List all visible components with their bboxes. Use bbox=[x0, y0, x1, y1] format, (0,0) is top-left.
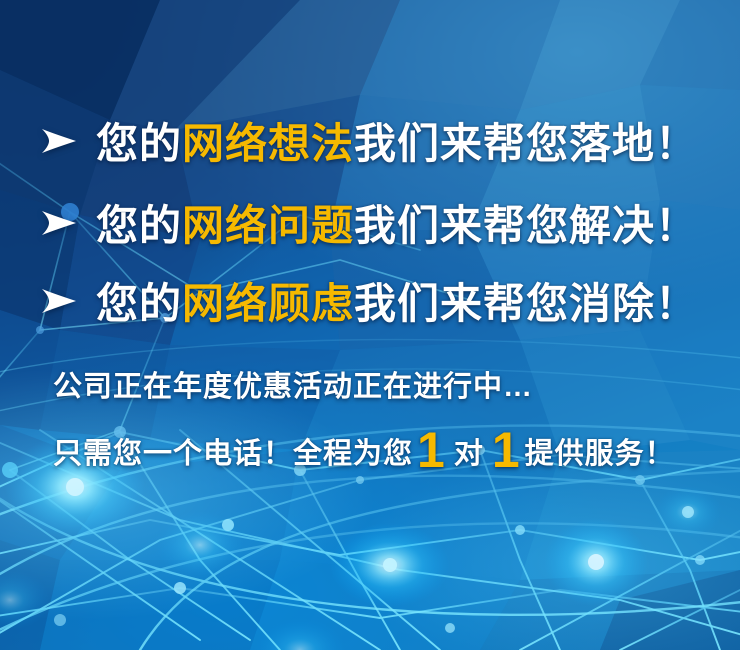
arrow-right-icon bbox=[40, 206, 78, 240]
headline-3-highlight: 网络顾虑 bbox=[182, 270, 354, 331]
headline-2-suffix: 我们来帮您解决！ bbox=[354, 192, 698, 253]
service-number-first: 1 bbox=[413, 422, 450, 478]
subline-service-part1: 只需您一个电话！全程为您 bbox=[53, 438, 413, 470]
arrow-right-icon bbox=[40, 284, 78, 318]
headline-row-1: 您的网络想法我们来帮您落地！ bbox=[40, 110, 698, 171]
arrow-right-icon bbox=[40, 124, 78, 158]
headline-1-prefix: 您的 bbox=[96, 110, 182, 171]
headline-3-prefix: 您的 bbox=[96, 270, 182, 331]
promo-subline-activity: 公司正在年度优惠活动正在进行中… bbox=[53, 363, 533, 405]
service-middle-word: 对 bbox=[450, 438, 488, 470]
headline-2-highlight: 网络问题 bbox=[182, 192, 354, 253]
service-number-second: 1 bbox=[488, 422, 525, 478]
headline-1-suffix: 我们来帮您落地！ bbox=[354, 110, 698, 171]
headline-1-highlight: 网络想法 bbox=[182, 110, 354, 171]
banner-content: 您的网络想法我们来帮您落地！ 您的网络问题我们来帮您解决！ 您的网络顾虑我们来帮… bbox=[0, 0, 740, 650]
promo-subline-service: 只需您一个电话！全程为您1对1提供服务！ bbox=[53, 430, 675, 472]
headline-row-3: 您的网络顾虑我们来帮您消除！ bbox=[40, 270, 698, 331]
headline-2-prefix: 您的 bbox=[96, 192, 182, 253]
headline-3-suffix: 我们来帮您消除！ bbox=[354, 270, 698, 331]
headline-row-2: 您的网络问题我们来帮您解决！ bbox=[40, 192, 698, 253]
promo-banner: 您的网络想法我们来帮您落地！ 您的网络问题我们来帮您解决！ 您的网络顾虑我们来帮… bbox=[0, 0, 740, 650]
subline-service-part2: 提供服务！ bbox=[525, 438, 675, 470]
